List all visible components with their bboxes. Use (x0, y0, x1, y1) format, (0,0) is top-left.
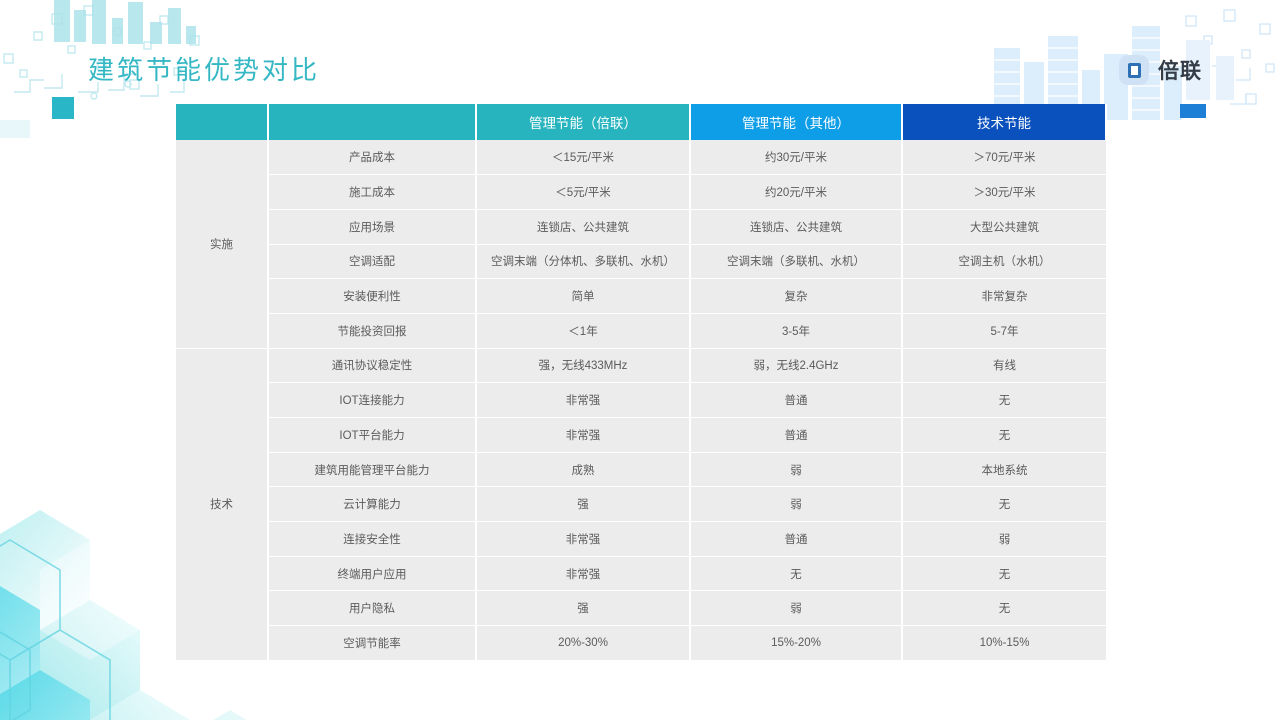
cell-column-c: 空调主机（水机） (902, 244, 1106, 279)
cell-column-b: 3-5年 (690, 313, 902, 348)
cell-column-a: 强 (476, 591, 690, 626)
cell-column-a: 成熟 (476, 452, 690, 487)
row-item-label: IOT连接能力 (268, 383, 476, 418)
cell-column-c: ＞70元/平米 (902, 140, 1106, 175)
row-item-label: 通讯协议稳定性 (268, 348, 476, 383)
cell-column-a: 简单 (476, 279, 690, 314)
header-column-b: 管理节能（其他） (690, 104, 902, 140)
table-row: 云计算能力强弱无 (176, 487, 1106, 522)
accent-square-teal (52, 97, 74, 119)
table-row: 实施产品成本＜15元/平米约30元/平米＞70元/平米 (176, 140, 1106, 175)
beilian-square-logo-icon (1119, 55, 1149, 85)
table-header-row: 管理节能（倍联） 管理节能（其他） 技术节能 (176, 104, 1106, 140)
cell-column-a: 非常强 (476, 522, 690, 557)
cell-column-c: 弱 (902, 522, 1106, 557)
comparison-table: 管理节能（倍联） 管理节能（其他） 技术节能 实施产品成本＜15元/平米约30元… (176, 104, 1107, 661)
slide-canvas: 建筑节能优势对比 倍联 管理节能（倍联） 管理节能（其他） 技术节能 实施产品成… (0, 0, 1280, 720)
table-row: 连接安全性非常强普通弱 (176, 522, 1106, 557)
cell-column-b: 约20元/平米 (690, 175, 902, 210)
brand-name: 倍联 (1158, 55, 1202, 85)
cell-column-a: 强 (476, 487, 690, 522)
group-label-1: 实施 (176, 140, 268, 348)
cell-column-c: 无 (902, 556, 1106, 591)
cell-column-b: 空调末端（多联机、水机） (690, 244, 902, 279)
row-item-label: 应用场景 (268, 209, 476, 244)
brand-logo: 倍联 (1119, 55, 1202, 85)
cell-column-c: ＞30元/平米 (902, 175, 1106, 210)
cell-column-a: ＜5元/平米 (476, 175, 690, 210)
row-item-label: 云计算能力 (268, 487, 476, 522)
header-item (268, 104, 476, 140)
row-item-label: 产品成本 (268, 140, 476, 175)
header-column-a: 管理节能（倍联） (476, 104, 690, 140)
cell-column-c: 无 (902, 591, 1106, 626)
cell-column-a: ＜15元/平米 (476, 140, 690, 175)
header-column-c: 技术节能 (902, 104, 1106, 140)
cell-column-c: 本地系统 (902, 452, 1106, 487)
cell-column-b: 弱 (690, 591, 902, 626)
table-row: 终端用户应用非常强无无 (176, 556, 1106, 591)
cell-column-a: 非常强 (476, 383, 690, 418)
row-item-label: 节能投资回报 (268, 313, 476, 348)
row-item-label: 用户隐私 (268, 591, 476, 626)
cell-column-b: 弱 (690, 487, 902, 522)
comparison-table-container: 管理节能（倍联） 管理节能（其他） 技术节能 实施产品成本＜15元/平米约30元… (176, 104, 1106, 661)
table-row: IOT连接能力非常强普通无 (176, 383, 1106, 418)
cell-column-b: 连锁店、公共建筑 (690, 209, 902, 244)
cell-column-a: 非常强 (476, 556, 690, 591)
cell-column-c: 10%-15% (902, 626, 1106, 661)
row-item-label: 安装便利性 (268, 279, 476, 314)
group-label-2: 技术 (176, 348, 268, 660)
cell-column-b: 无 (690, 556, 902, 591)
table-row: IOT平台能力非常强普通无 (176, 418, 1106, 453)
cell-column-a: 20%-30% (476, 626, 690, 661)
cell-column-b: 复杂 (690, 279, 902, 314)
header-group (176, 104, 268, 140)
cell-column-a: 空调末端（分体机、多联机、水机） (476, 244, 690, 279)
table-row: 空调节能率20%-30%15%-20%10%-15% (176, 626, 1106, 661)
cell-column-c: 无 (902, 487, 1106, 522)
table-row: 空调适配空调末端（分体机、多联机、水机）空调末端（多联机、水机）空调主机（水机） (176, 244, 1106, 279)
table-row: 用户隐私强弱无 (176, 591, 1106, 626)
table-row: 应用场景连锁店、公共建筑连锁店、公共建筑大型公共建筑 (176, 209, 1106, 244)
cell-column-c: 有线 (902, 348, 1106, 383)
cell-column-b: 普通 (690, 383, 902, 418)
cell-column-a: 连锁店、公共建筑 (476, 209, 690, 244)
cell-column-b: 弱 (690, 452, 902, 487)
accent-square-pale (0, 120, 30, 138)
table-row: 节能投资回报＜1年3-5年5-7年 (176, 313, 1106, 348)
table-row: 施工成本＜5元/平米约20元/平米＞30元/平米 (176, 175, 1106, 210)
table-row: 建筑用能管理平台能力成熟弱本地系统 (176, 452, 1106, 487)
cell-column-c: 5-7年 (902, 313, 1106, 348)
cell-column-c: 大型公共建筑 (902, 209, 1106, 244)
cell-column-b: 弱，无线2.4GHz (690, 348, 902, 383)
accent-square-blue (1180, 104, 1206, 118)
table-row: 安装便利性简单复杂非常复杂 (176, 279, 1106, 314)
table-row: 技术通讯协议稳定性强，无线433MHz弱，无线2.4GHz有线 (176, 348, 1106, 383)
cell-column-b: 普通 (690, 522, 902, 557)
row-item-label: 终端用户应用 (268, 556, 476, 591)
row-item-label: 空调适配 (268, 244, 476, 279)
row-item-label: 连接安全性 (268, 522, 476, 557)
page-title: 建筑节能优势对比 (88, 50, 320, 87)
row-item-label: 施工成本 (268, 175, 476, 210)
cell-column-a: ＜1年 (476, 313, 690, 348)
cell-column-c: 无 (902, 383, 1106, 418)
cell-column-c: 非常复杂 (902, 279, 1106, 314)
cell-column-c: 无 (902, 418, 1106, 453)
cell-column-b: 普通 (690, 418, 902, 453)
cell-column-a: 非常强 (476, 418, 690, 453)
row-item-label: IOT平台能力 (268, 418, 476, 453)
row-item-label: 建筑用能管理平台能力 (268, 452, 476, 487)
cell-column-b: 约30元/平米 (690, 140, 902, 175)
table-body: 实施产品成本＜15元/平米约30元/平米＞70元/平米施工成本＜5元/平米约20… (176, 140, 1106, 660)
cell-column-b: 15%-20% (690, 626, 902, 661)
cell-column-a: 强，无线433MHz (476, 348, 690, 383)
row-item-label: 空调节能率 (268, 626, 476, 661)
